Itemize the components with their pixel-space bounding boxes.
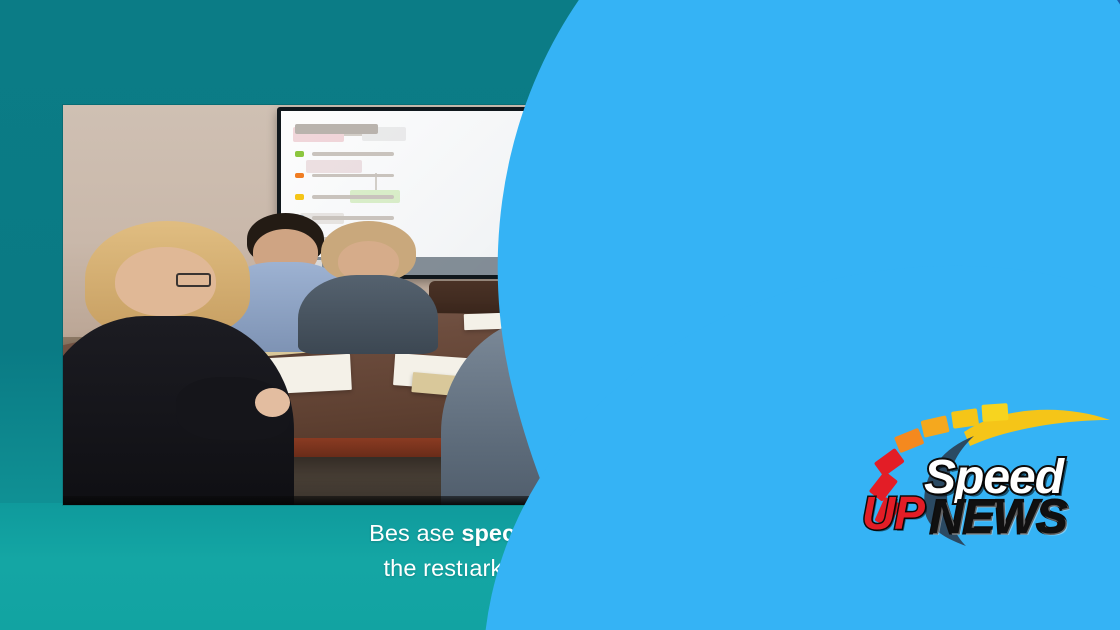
legend-swatch-icon bbox=[295, 151, 304, 157]
graphic-canvas: Bes ase specule noed in recent oning a t… bbox=[0, 0, 1120, 630]
legend-swatch-icon bbox=[295, 194, 304, 200]
hand bbox=[255, 388, 290, 417]
person-woman-short-hair bbox=[298, 221, 438, 349]
person-blonde-woman-black-blazer bbox=[63, 221, 281, 505]
caption-line1-pre: Bes ase bbox=[369, 520, 461, 546]
glasses-icon bbox=[176, 273, 211, 287]
legend-swatch-icon bbox=[295, 173, 304, 179]
legend-row bbox=[295, 151, 397, 159]
slide-title-placeholder bbox=[295, 124, 378, 135]
legend-label-placeholder bbox=[312, 195, 394, 199]
logo-word-news: NEWS bbox=[930, 493, 1067, 540]
legend-row bbox=[295, 193, 397, 201]
legend-row bbox=[295, 172, 397, 180]
speed-up-news-logo[interactable]: Speed UP NEWS bbox=[852, 398, 1120, 568]
legend-label-placeholder bbox=[312, 174, 394, 178]
torso bbox=[298, 275, 438, 354]
logo-word-up: UP bbox=[862, 490, 924, 536]
legend-label-placeholder bbox=[312, 152, 394, 156]
